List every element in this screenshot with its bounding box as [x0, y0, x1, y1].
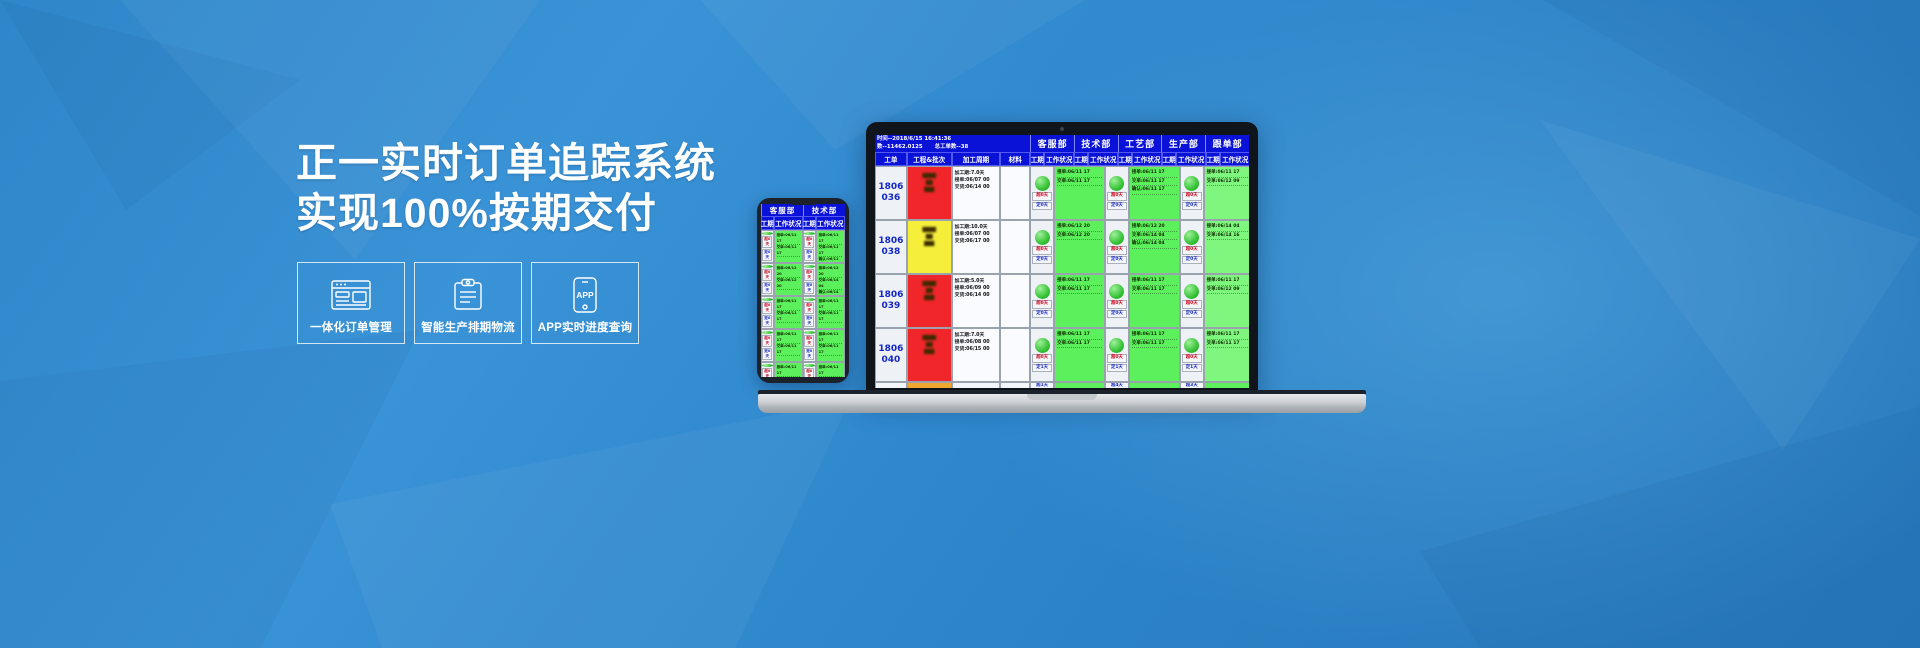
status-line: 交单:06/12 20: [777, 278, 800, 290]
status-line: 接单:06/11 17: [777, 332, 800, 344]
work-order-cell[interactable]: 1806038: [875, 220, 907, 274]
overdue-tag: 超0天: [1182, 246, 1202, 255]
col-status: 工作状况: [1088, 152, 1118, 166]
project-cell[interactable]: █████████: [907, 166, 952, 220]
duration-cell[interactable]: 超0天 定1天: [1105, 328, 1129, 382]
status-line: 交单:06/12 09: [1207, 178, 1249, 187]
phone-col-duration: 工期: [761, 216, 774, 230]
phone-duration-cell[interactable]: 超0天 定0天: [761, 362, 774, 377]
material-cell[interactable]: [1000, 328, 1030, 382]
work-order-cell[interactable]: 1806040: [875, 328, 907, 382]
phone-col-status: 工作状况: [774, 216, 803, 230]
fixed-tag: 定0天: [1107, 256, 1127, 265]
headline-line-2: 实现100%按期交付: [296, 188, 716, 238]
col-status: 工作状况: [1132, 152, 1162, 166]
col-status: 工作状况: [1044, 152, 1074, 166]
status-cell[interactable]: 接单:06/12 20交单:06/14 04确认:06/14 04: [1129, 220, 1180, 274]
feature-label: 一体化订单管理: [310, 319, 392, 335]
duration-cell[interactable]: 超0天 定0天: [1030, 220, 1054, 274]
status-line: 接单:06/11 17: [1207, 277, 1249, 286]
duration-cell[interactable]: 超0天 定0天: [1180, 166, 1204, 220]
footer-cell: [952, 382, 1001, 388]
status-line: 交单:06/11 17: [777, 245, 800, 257]
footer-duration-cell: 超1天: [1030, 382, 1054, 388]
status-line: 接单:06/11 17: [1207, 331, 1249, 340]
phone-status-cell[interactable]: 接单:06/11 17交单:06/11 17: [816, 296, 845, 329]
dept-process[interactable]: 工艺部: [1118, 135, 1162, 152]
status-line: 交单:06/11 17: [777, 344, 800, 356]
phone-table-row[interactable]: 超0天 定0天 接单:06/11 17交单:06/11 17 超0天 定0天 接…: [761, 362, 845, 377]
status-cell[interactable]: 接单:06/11 17交单:06/11 17确认:06/11 17: [1129, 166, 1180, 220]
fixed-tag: 定0天: [804, 282, 814, 294]
dept-production[interactable]: 生产部: [1161, 135, 1205, 152]
phone-status-cell[interactable]: 接单:06/11 17交单:06/11 17: [774, 329, 803, 362]
status-indicator-green: [1184, 284, 1199, 299]
laptop-lid: 时间--2018/6/15 16:41:36 数--11462.0125 总工单…: [866, 122, 1258, 399]
fixed-tag: 定1天: [1032, 364, 1052, 373]
footer-duration-cell: 超3天: [1180, 382, 1204, 388]
fixed-tag: 定0天: [1182, 256, 1202, 265]
overdue-tag: 超0天: [1107, 246, 1127, 255]
status-line: 接单:06/12 20: [1132, 223, 1177, 232]
status-indicator-green: [1109, 284, 1124, 299]
table-row[interactable]: 1806040 █████████ 加工期:7.0天接单:06/08 00交货:…: [875, 328, 1249, 382]
overdue-tag: 超0天: [804, 302, 814, 314]
col-project: 工程&批次: [907, 152, 952, 166]
cycle-line: 接单:06/08 00: [955, 339, 998, 346]
col-status: 工作状况: [1220, 152, 1249, 166]
phone-duration-cell[interactable]: 超0天 定0天: [803, 263, 816, 296]
phone-notch: [788, 200, 818, 205]
fixed-tag: 定0天: [1032, 202, 1052, 211]
phone-duration-cell[interactable]: 超0天 定0天: [761, 263, 774, 296]
status-indicator-green: [1184, 230, 1199, 245]
phone-status-cell[interactable]: 接单:06/12 20交单:06/12 20: [774, 263, 803, 296]
status-indicator-green: [1035, 284, 1050, 299]
erp-top-bar: 时间--2018/6/15 16:41:36 数--11462.0125 总工单…: [875, 135, 1249, 152]
table-row[interactable]: 1806039 █████████ 加工期:5.0天接单:06/09 00交货:…: [875, 274, 1249, 328]
cycle-cell[interactable]: 加工期:7.0天接单:06/08 00交货:06/15 00: [952, 328, 1001, 382]
phone-table-row[interactable]: 超0天 定0天 接单:06/11 17交单:06/11 17 超0天 定0天 接…: [761, 296, 845, 329]
material-cell[interactable]: [1000, 220, 1030, 274]
fixed-tag: 定0天: [762, 282, 772, 294]
status-line: 交单:06/11 17: [819, 311, 842, 323]
status-line: 接单:06/11 17: [777, 365, 800, 377]
status-cell[interactable]: 接单:06/14 04交单:06/14 16: [1204, 220, 1249, 274]
col-duration: 工期: [1074, 152, 1088, 166]
fixed-tag: 定0天: [1107, 202, 1127, 211]
overdue-tag: 超0天: [804, 368, 814, 377]
phone-dept-technical[interactable]: 技术部: [803, 204, 845, 216]
status-line: 接单:06/12 20: [819, 266, 842, 278]
phone-status-cell[interactable]: 接单:06/11 17交单:06/11 17: [816, 362, 845, 377]
feature-list: 一体化订单管理 智能生产排期物流: [297, 262, 639, 344]
phone-dept-customer-service[interactable]: 客服部: [761, 204, 803, 216]
bg-polygon: [0, 330, 420, 648]
status-line: 接单:06/11 17: [819, 332, 842, 344]
phone-row-list: 超0天 定0天 接单:06/11 17交单:06/11 17 超0天 定0天 接…: [761, 230, 845, 377]
project-name-blurred: █████████: [908, 329, 951, 356]
cycle-line: 交货:06/17 00: [955, 238, 998, 245]
dept-technical[interactable]: 技术部: [1074, 135, 1118, 152]
feature-card-order-management[interactable]: 一体化订单管理: [297, 262, 405, 344]
cycle-cell[interactable]: 加工期:7.0天接单:06/07 00交货:06/14 00: [952, 166, 1001, 220]
headline-block: 正一实时订单追踪系统 实现100%按期交付: [296, 138, 716, 238]
status-line: 交单:06/12 20: [1057, 232, 1102, 241]
fixed-tag: 定0天: [804, 315, 814, 327]
phone-col-duration: 工期: [803, 216, 816, 230]
erp-total-orders: 总工单数--38: [935, 144, 969, 152]
footer-status-cell: [1054, 382, 1105, 388]
cycle-line: 加工期:7.0天: [955, 170, 998, 177]
mobile-app-icon: APP: [572, 276, 598, 314]
smartphone-device: 客服部 技术部 工期 工作状况 工期 工作状况 超0天 定0天 接单:06/11…: [757, 198, 849, 383]
project-name-blurred: █████████: [908, 167, 951, 194]
phone-col-status: 工作状况: [816, 216, 845, 230]
erp-count: 数--11462.0125: [877, 144, 923, 152]
status-line: 交单:06/11 17: [1057, 340, 1102, 349]
status-line: 接单:06/12 20: [777, 266, 800, 278]
status-indicator-green: [1109, 338, 1124, 353]
dept-subheader-group: 工期 工作状况工期 工作状况工期 工作状况工期 工作状况工期 工作状况: [1030, 152, 1249, 166]
footer-status-cell: [1204, 382, 1249, 388]
status-line: 接单:06/11 17: [1057, 331, 1102, 340]
status-cell[interactable]: 接单:06/11 17交单:06/11 17: [1129, 274, 1180, 328]
status-cell[interactable]: 接单:06/11 17交单:06/12 09: [1204, 274, 1249, 328]
overdue-tag: 超0天: [1032, 246, 1052, 255]
col-duration: 工期: [1206, 152, 1220, 166]
col-duration: 工期: [1162, 152, 1176, 166]
webcam-icon: [1060, 127, 1064, 131]
cycle-line: 交货:06/14 00: [955, 292, 998, 299]
overdue-tag: 超0天: [762, 269, 772, 281]
phone-status-cell[interactable]: 接单:06/11 17交单:06/11 17: [774, 230, 803, 263]
status-indicator-green: [1035, 230, 1050, 245]
project-cell[interactable]: █████████: [907, 220, 952, 274]
duration-cell[interactable]: 超0天 定1天: [1030, 328, 1054, 382]
overdue-tag: 超0天: [804, 269, 814, 281]
duration-cell[interactable]: 超0天 定0天: [1105, 220, 1129, 274]
work-order-cell[interactable]: 1806039: [875, 274, 907, 328]
status-indicator-green: [762, 232, 773, 235]
clipboard-icon: [451, 276, 485, 314]
duration-cell[interactable]: 超0天 定0天: [1105, 274, 1129, 328]
overdue-tag: 超0天: [1032, 192, 1052, 201]
status-indicator-green: [762, 331, 773, 334]
status-line: 交单:06/11 17: [1132, 178, 1177, 187]
status-line: 交单:06/12 09: [1207, 286, 1249, 295]
status-indicator-green: [804, 265, 815, 268]
status-indicator-green: [762, 265, 773, 268]
overdue-tag: 超0天: [1182, 300, 1202, 309]
status-indicator-green: [804, 364, 815, 367]
phone-table-row[interactable]: 超0天 定0天 接单:06/11 17交单:06/11 17 超0天 定0天 接…: [761, 230, 845, 263]
laptop-base-notch: [1027, 394, 1097, 400]
status-line: 交单:06/14 04: [1132, 232, 1177, 241]
status-indicator-green: [804, 298, 815, 301]
overdue-tag: 超0天: [1107, 192, 1127, 201]
duration-cell[interactable]: 超0天 定0天: [1030, 274, 1054, 328]
cycle-cell[interactable]: 加工期:5.0天接单:06/09 00交货:06/14 00: [952, 274, 1001, 328]
phone-duration-cell[interactable]: 超0天 定0天: [761, 230, 774, 263]
status-line: 交单:06/11 17: [819, 344, 842, 356]
erp-info-block: 时间--2018/6/15 16:41:36 数--11462.0125 总工单…: [875, 135, 1030, 152]
col-duration: 工期: [1030, 152, 1044, 166]
status-cell[interactable]: 接单:06/11 17交单:06/11 17: [1054, 274, 1105, 328]
duration-cell[interactable]: 超0天 定0天: [1030, 166, 1054, 220]
cycle-line: 交货:06/15 00: [955, 346, 998, 353]
overdue-tag: 超0天: [762, 368, 772, 377]
status-line: 交单:06/11 17: [819, 245, 842, 257]
phone-dept-header: 客服部 技术部: [761, 204, 845, 216]
cycle-line: 加工期:5.0天: [955, 278, 998, 285]
material-cell[interactable]: [1000, 166, 1030, 220]
bg-polygon: [1420, 380, 1920, 648]
phone-subheader: 工期 工作状况 工期 工作状况: [761, 216, 845, 230]
fixed-tag: 定1天: [1182, 364, 1202, 373]
status-line: 交单:06/11 17: [1132, 340, 1177, 349]
status-line: 接单:06/11 17: [1057, 277, 1102, 286]
col-duration: 工期: [1118, 152, 1132, 166]
feature-card-app-progress[interactable]: APP APP实时进度查询: [531, 262, 639, 344]
overdue-tag: 超0天: [762, 302, 772, 314]
overdue-tag: 超0天: [1182, 354, 1202, 363]
promo-banner: 正一实时订单追踪系统 实现100%按期交付 一体化订单管理: [0, 0, 1920, 648]
status-line: 交单:06/11 17: [1057, 178, 1102, 187]
overdue-tag: 超0天: [1032, 300, 1052, 309]
erp-column-header: 工单 工程&批次 加工周期 材料 工期 工作状况工期 工作状况工期 工作状况工期…: [875, 152, 1249, 166]
phone-duration-cell[interactable]: 超0天 定0天: [803, 362, 816, 377]
dept-order-follow[interactable]: 跟单部: [1205, 135, 1249, 152]
status-line: 交单:06/11 17: [777, 311, 800, 323]
duration-cell[interactable]: 超0天 定0天: [1105, 166, 1129, 220]
cycle-cell[interactable]: 加工期:10.0天接单:06/07 00交货:06/17 00: [952, 220, 1001, 274]
duration-cell[interactable]: 超0天 定0天: [1180, 220, 1204, 274]
overdue-tag: 超0天: [1107, 354, 1127, 363]
status-line: 接单:06/11 17: [1132, 169, 1177, 178]
phone-duration-cell[interactable]: 超0天 定0天: [803, 329, 816, 362]
overdue-tag: 超0天: [1182, 192, 1202, 201]
status-cell[interactable]: 接单:06/11 17交单:06/11 17: [1204, 328, 1249, 382]
col-cycle: 加工周期: [952, 152, 1001, 166]
overdue-tag: 超0天: [1032, 354, 1052, 363]
fixed-tag: 定0天: [1182, 310, 1202, 319]
phone-duration-cell[interactable]: 超0天 定0天: [761, 329, 774, 362]
feature-label: APP实时进度查询: [538, 319, 632, 335]
col-material: 材料: [1000, 152, 1030, 166]
footer-tag: 超1天: [1032, 383, 1052, 388]
table-row[interactable]: 1806038 █████████ 加工期:10.0天接单:06/07 00交货…: [875, 220, 1249, 274]
status-cell[interactable]: 接单:06/11 17交单:06/12 09: [1204, 166, 1249, 220]
status-line: 确认:06/14 04: [1132, 240, 1177, 249]
status-line: 接单:06/12 20: [1057, 223, 1102, 232]
cycle-line: 接单:06/07 00: [955, 177, 998, 184]
cycle-line: 交货:06/14 00: [955, 184, 998, 191]
phone-duration-cell[interactable]: 超0天 定0天: [803, 230, 816, 263]
status-line: 接单:06/11 17: [1057, 169, 1102, 178]
cycle-line: 接单:06/09 00: [955, 285, 998, 292]
phone-status-cell[interactable]: 接单:06/11 17交单:06/11 17: [816, 329, 845, 362]
status-line: 接单:06/14 04: [1207, 223, 1249, 232]
cycle-line: 接单:06/07 00: [955, 231, 998, 238]
status-indicator-green: [1035, 176, 1050, 191]
status-cell[interactable]: 接单:06/11 17交单:06/11 17: [1129, 328, 1180, 382]
phone-status-cell[interactable]: 接单:06/11 17交单:06/11 17确认:06/11 17: [816, 230, 845, 263]
status-line: 接单:06/11 17: [819, 299, 842, 311]
work-order-cell[interactable]: 1806036: [875, 166, 907, 220]
status-line: 接单:06/11 17: [819, 233, 842, 245]
status-cell[interactable]: 接单:06/12 20交单:06/12 20: [1054, 220, 1105, 274]
status-line: 确认:06/11 17: [1132, 186, 1177, 195]
project-name-blurred: █████████: [908, 275, 951, 302]
status-indicator-green: [1184, 176, 1199, 191]
duration-cell[interactable]: 超0天 定1天: [1180, 328, 1204, 382]
status-indicator-green: [1109, 230, 1124, 245]
status-indicator-green: [804, 232, 815, 235]
footer-status-cell: [1129, 382, 1180, 388]
status-line: 接单:06/11 17: [819, 365, 842, 377]
status-line: 交单:06/11 17: [1057, 286, 1102, 295]
status-line: 交单:06/14 04: [819, 278, 842, 290]
laptop-base: [758, 394, 1366, 413]
phone-table-row[interactable]: 超0天 定0天 接单:06/12 20交单:06/12 20 超0天 定0天 接…: [761, 263, 845, 296]
status-cell[interactable]: 接单:06/11 17交单:06/11 17: [1054, 166, 1105, 220]
material-cell[interactable]: [1000, 274, 1030, 328]
status-indicator-green: [1035, 338, 1050, 353]
cycle-line: 加工期:10.0天: [955, 224, 998, 231]
status-indicator-green: [1109, 176, 1124, 191]
status-indicator-green: [1184, 338, 1199, 353]
footer-cell: [907, 382, 952, 388]
fixed-tag: 定0天: [762, 348, 772, 360]
duration-cell[interactable]: 超0天 定0天: [1180, 274, 1204, 328]
erp-row-list: 1806036 █████████ 加工期:7.0天接单:06/07 00交货:…: [875, 166, 1249, 382]
status-indicator-green: [762, 364, 773, 367]
overdue-tag: 超0天: [762, 335, 772, 347]
erp-footer-row: 超1天 超4天 超3天 超3天 超1天: [875, 382, 1249, 388]
svg-text:APP: APP: [576, 290, 594, 300]
phone-status-cell[interactable]: 接单:06/11 17交单:06/11 17: [774, 362, 803, 377]
overdue-tag: 超0天: [1107, 300, 1127, 309]
status-indicator-green: [762, 298, 773, 301]
fixed-tag: 定0天: [804, 348, 814, 360]
project-cell[interactable]: █████████: [907, 328, 952, 382]
footer-tag: 超4天: [1107, 383, 1127, 388]
phone-table-row[interactable]: 超0天 定0天 接单:06/11 17交单:06/11 17 超0天 定0天 接…: [761, 329, 845, 362]
footer-cell: [875, 382, 907, 388]
footer-duration-cell: 超4天: [1105, 382, 1129, 388]
laptop-device: 时间--2018/6/15 16:41:36 数--11462.0125 总工单…: [866, 122, 1314, 422]
feature-label: 智能生产排期物流: [421, 319, 515, 335]
phone-duration-cell[interactable]: 超0天 定0天: [761, 296, 774, 329]
phone-status-cell[interactable]: 接单:06/12 20交单:06/14 04确认:06/14 04: [816, 263, 845, 296]
status-line: 接单:06/11 17: [777, 299, 800, 311]
fixed-tag: 定0天: [1032, 310, 1052, 319]
erp-time: 时间--2018/6/15 16:41:36: [877, 136, 1028, 144]
fixed-tag: 定0天: [762, 315, 772, 327]
project-cell[interactable]: █████████: [907, 274, 952, 328]
status-line: 交单:06/11 17: [1207, 340, 1249, 349]
fixed-tag: 定0天: [762, 249, 772, 261]
overdue-tag: 超0天: [762, 236, 772, 248]
laptop-screen[interactable]: 时间--2018/6/15 16:41:36 数--11462.0125 总工单…: [875, 135, 1249, 388]
status-cell[interactable]: 接单:06/11 17交单:06/11 17: [1054, 328, 1105, 382]
browser-layout-icon: [331, 276, 371, 314]
status-line: 接单:06/11 17: [777, 233, 800, 245]
fixed-tag: 定0天: [1182, 202, 1202, 211]
footer-tag: 超3天: [1182, 383, 1202, 388]
status-line: 接单:06/11 17: [1207, 169, 1249, 178]
fixed-tag: 定0天: [1032, 256, 1052, 265]
fixed-tag: 定1天: [1107, 364, 1127, 373]
status-indicator-green: [804, 331, 815, 334]
fixed-tag: 定0天: [1107, 310, 1127, 319]
phone-body: 客服部 技术部 工期 工作状况 工期 工作状况 超0天 定0天 接单:06/11…: [757, 198, 849, 383]
status-line: 接单:06/11 17: [1132, 277, 1177, 286]
project-name-blurred: █████████: [908, 221, 951, 248]
overdue-tag: 超0天: [804, 236, 814, 248]
status-line: 接单:06/11 17: [1132, 331, 1177, 340]
col-status: 工作状况: [1176, 152, 1206, 166]
phone-screen[interactable]: 客服部 技术部 工期 工作状况 工期 工作状况 超0天 定0天 接单:06/11…: [761, 204, 845, 377]
fixed-tag: 定0天: [804, 249, 814, 261]
headline-line-1: 正一实时订单追踪系统: [296, 138, 716, 188]
bg-polygon: [330, 400, 850, 648]
overdue-tag: 超0天: [804, 335, 814, 347]
footer-cell: [1000, 382, 1030, 388]
status-line: 交单:06/14 16: [1207, 232, 1249, 241]
table-row[interactable]: 1806036 █████████ 加工期:7.0天接单:06/07 00交货:…: [875, 166, 1249, 220]
cycle-line: 加工期:7.0天: [955, 332, 998, 339]
phone-status-cell[interactable]: 接单:06/11 17交单:06/11 17: [774, 296, 803, 329]
dept-customer-service[interactable]: 客服部: [1030, 135, 1074, 152]
phone-duration-cell[interactable]: 超0天 定0天: [803, 296, 816, 329]
col-work-order: 工单: [875, 152, 907, 166]
status-line: 交单:06/11 17: [1132, 286, 1177, 295]
feature-card-production-logistics[interactable]: 智能生产排期物流: [414, 262, 522, 344]
